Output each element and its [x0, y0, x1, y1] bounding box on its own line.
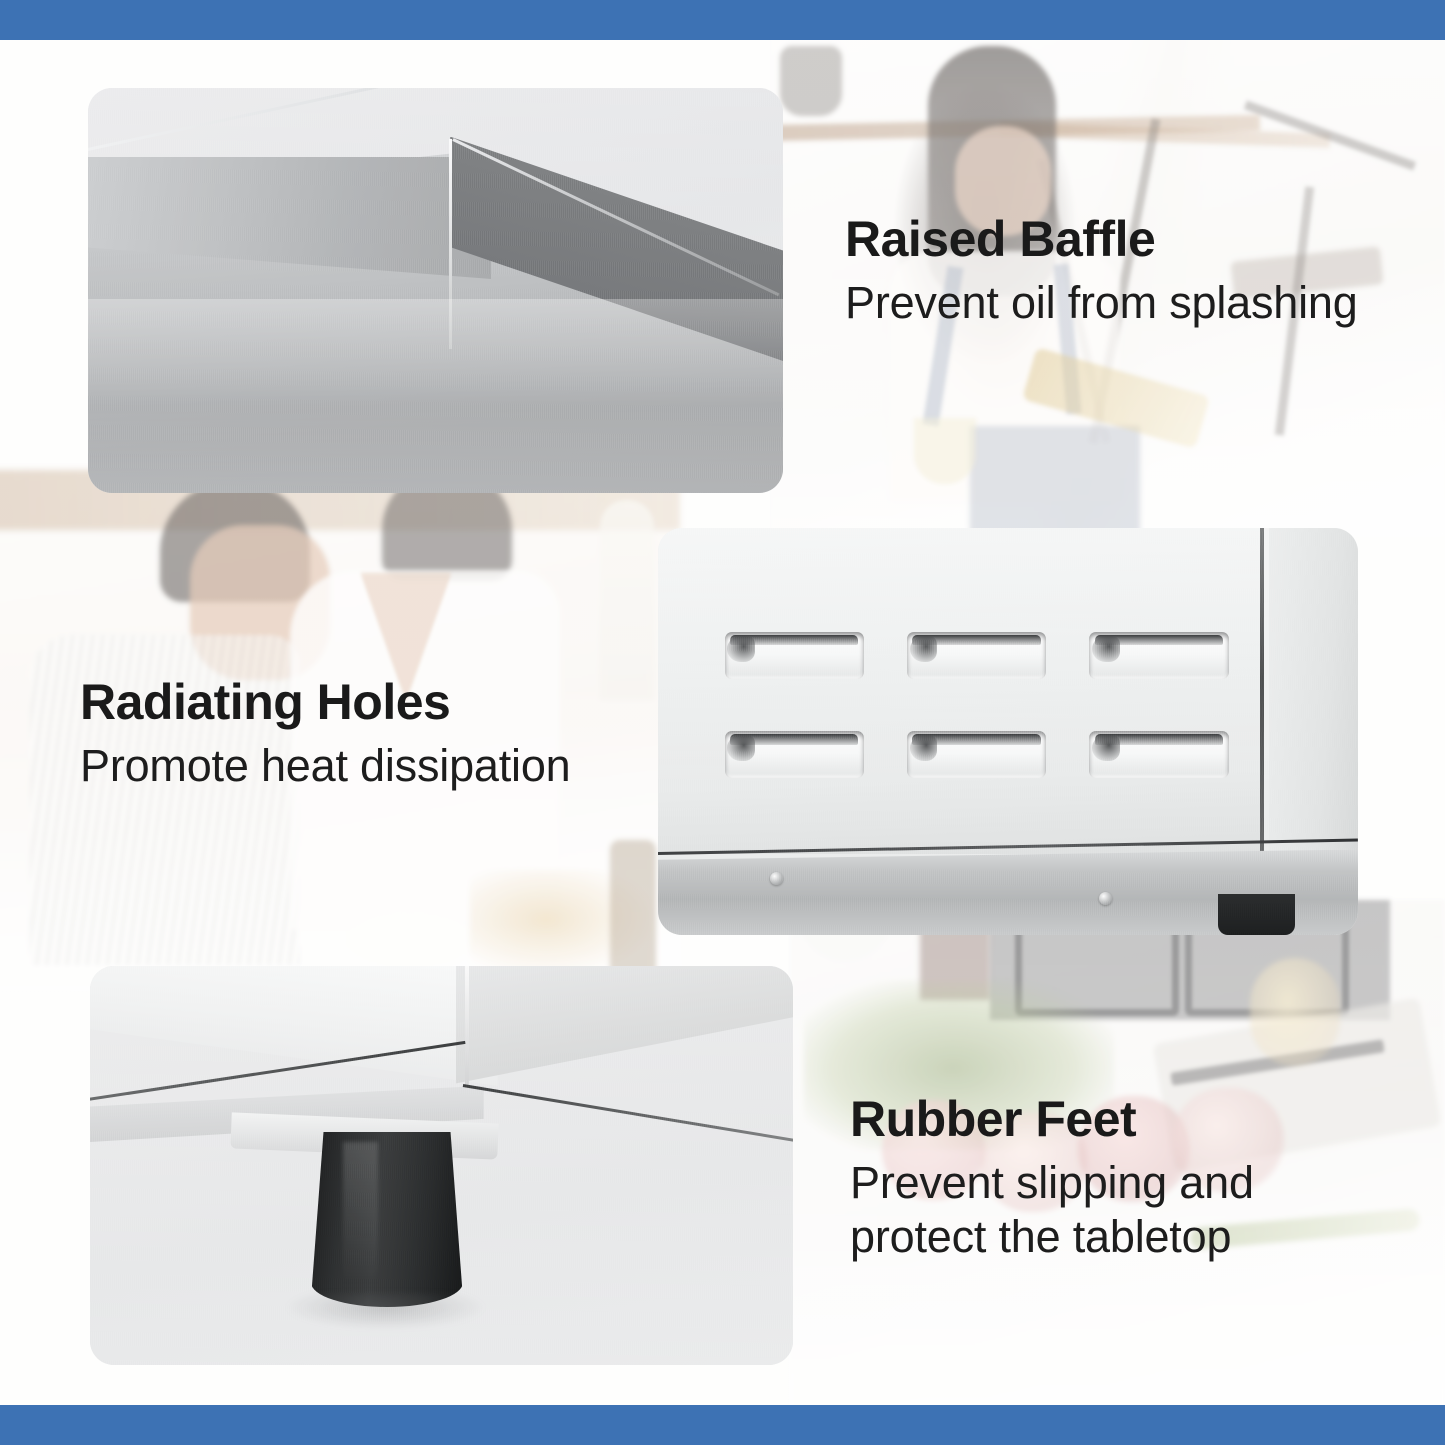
feature-text-raised-baffle: Raised Baffle Prevent oil from splashing [845, 212, 1405, 330]
rubber-foot [1218, 894, 1295, 935]
feature-image-radiating-holes [658, 528, 1358, 935]
foot-contact-shadow [287, 1293, 484, 1329]
feature-text-rubber-feet: Rubber Feet Prevent slipping and protect… [850, 1092, 1350, 1264]
infographic-canvas: Raised Baffle Prevent oil from splashing… [0, 0, 1445, 1445]
feature-title: Rubber Feet [850, 1092, 1350, 1146]
louver-slot [725, 632, 864, 679]
feature-subtitle: Prevent slipping and protect the tableto… [850, 1156, 1350, 1264]
louver-slot [907, 731, 1046, 778]
radiating-hole-grid [725, 632, 1229, 779]
louver-slot [907, 632, 1046, 679]
top-blue-band [0, 0, 1445, 40]
feature-image-rubber-feet [90, 966, 793, 1365]
rubber-foot-highlight [343, 1142, 378, 1286]
louver-slot [725, 731, 864, 778]
rivet [770, 872, 783, 885]
surface-sheen [88, 299, 783, 493]
feature-subtitle: Promote heat dissipation [80, 739, 640, 793]
feature-title: Raised Baffle [845, 212, 1405, 266]
feature-text-radiating-holes: Radiating Holes Promote heat dissipation [80, 675, 640, 793]
feature-image-raised-baffle [88, 88, 783, 493]
panel-seam [1260, 528, 1264, 902]
rubber-foot [311, 1132, 462, 1308]
feature-subtitle-line-2: protect the tabletop [850, 1211, 1231, 1262]
bottom-blue-band [0, 1405, 1445, 1445]
louver-slot [1089, 731, 1228, 778]
louver-slot [1089, 632, 1228, 679]
feature-title: Radiating Holes [80, 675, 640, 729]
feature-subtitle-line-1: Prevent slipping and [850, 1157, 1254, 1208]
griddle-rear-panel [1269, 528, 1358, 902]
feature-subtitle: Prevent oil from splashing [845, 276, 1405, 330]
